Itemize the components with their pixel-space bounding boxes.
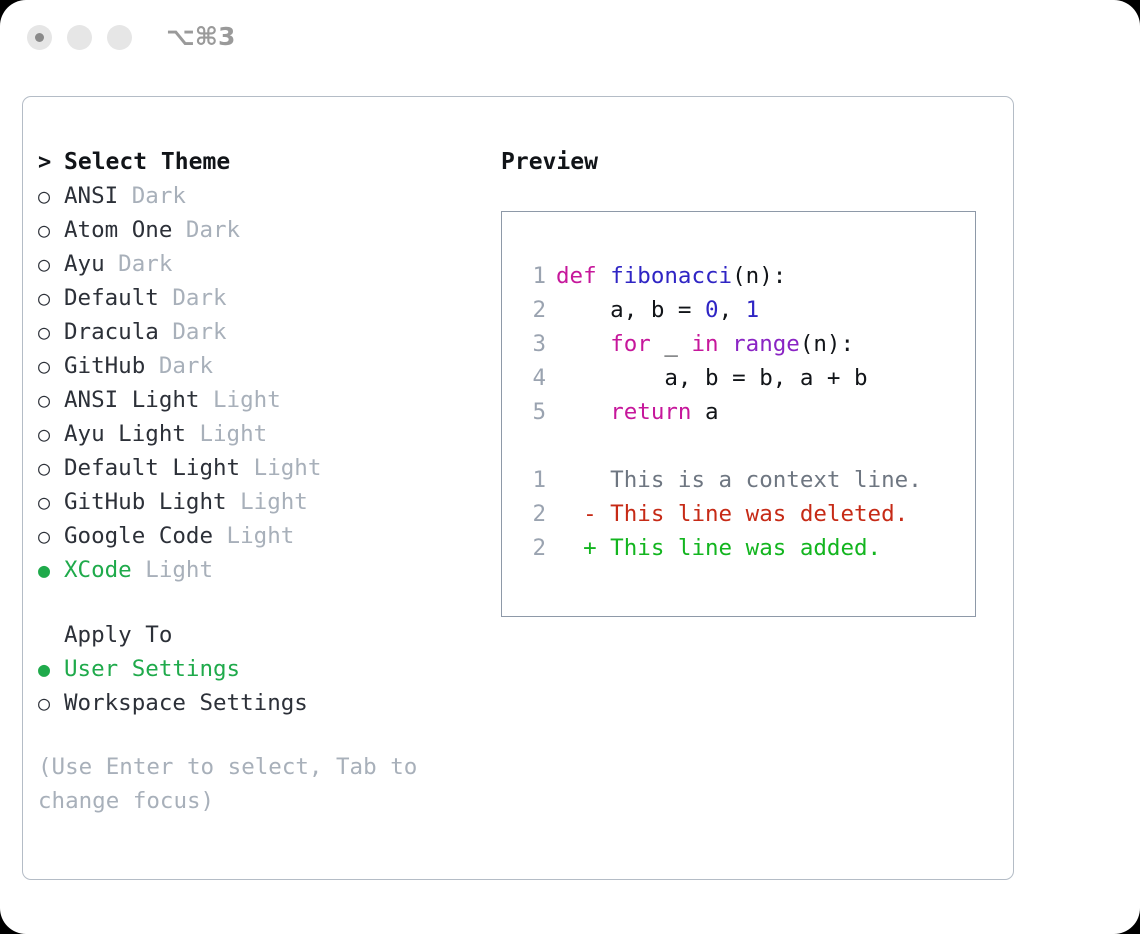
apply-to-option[interactable]: ○Workspace Settings [38, 686, 478, 720]
code-token-pl: (n): [732, 263, 786, 289]
apply-to-options: ●User Settings○Workspace Settings [38, 652, 478, 720]
traffic-light-maximize-icon[interactable] [107, 25, 132, 50]
code-token-pl: _ [651, 331, 692, 357]
theme-list-item[interactable]: ○Default Dark [38, 281, 478, 315]
code-token-bi: range [732, 331, 800, 357]
line-number: 2 [520, 293, 546, 327]
code-token-num: 0 [705, 297, 719, 323]
theme-list: ○ANSI Dark○Atom One Dark○Ayu Dark○Defaul… [38, 179, 478, 587]
apply-to-option-label: User Settings [64, 656, 240, 682]
theme-name: Ayu [64, 251, 105, 277]
keyboard-hint: (Use Enter to select, Tab to change focu… [38, 750, 438, 818]
line-number: 4 [520, 361, 546, 395]
app-window: ⌥⌘3 >Select Theme ○ANSI Dark○Atom One Da… [0, 0, 1140, 934]
code-token-pl [719, 331, 733, 357]
radio-unselected-icon: ○ [38, 686, 64, 720]
radio-unselected-icon: ○ [38, 349, 64, 383]
theme-kind-badge: Dark [159, 319, 227, 345]
line-number: 1 [520, 463, 546, 497]
theme-selection-column: >Select Theme ○ANSI Dark○Atom One Dark○A… [38, 145, 478, 818]
diff-line-text: - This line was deleted. [546, 501, 908, 527]
code-token-kw: for [610, 331, 651, 357]
code-line: 1def fibonacci(n): [520, 259, 922, 293]
diff-line: 2 - This line was deleted. [520, 497, 922, 531]
code-line-text: a, b = 0, 1 [546, 297, 759, 323]
theme-name: ANSI Light [64, 387, 199, 413]
code-token-kw: return [610, 399, 691, 425]
code-line: 3 for _ in range(n): [520, 327, 922, 361]
code-line: 5 return a [520, 395, 922, 429]
code-token-pl: a, b = [556, 297, 705, 323]
radio-unselected-icon: ○ [38, 247, 64, 281]
radio-unselected-icon: ○ [38, 519, 64, 553]
theme-list-item[interactable]: ○ANSI Dark [38, 179, 478, 213]
traffic-light-close-icon[interactable] [27, 25, 52, 50]
theme-name: Default Light [64, 455, 240, 481]
preview-column: Preview 1def fibonacci(n):2 a, b = 0, 13… [501, 145, 1001, 617]
theme-kind-badge: Light [240, 455, 321, 481]
code-token-pl [556, 399, 610, 425]
theme-list-item[interactable]: ●XCode Light [38, 553, 478, 587]
theme-kind-badge: Dark [105, 251, 173, 277]
theme-kind-badge: Dark [159, 285, 227, 311]
apply-to-option[interactable]: ●User Settings [38, 652, 478, 686]
code-token-num: 1 [746, 297, 760, 323]
select-theme-label: Select Theme [64, 149, 230, 175]
radio-unselected-icon: ○ [38, 315, 64, 349]
theme-list-item[interactable]: ○GitHub Dark [38, 349, 478, 383]
main-panel: >Select Theme ○ANSI Dark○Atom One Dark○A… [22, 96, 1014, 880]
theme-kind-badge: Light [227, 489, 308, 515]
preview-code: 1def fibonacci(n):2 a, b = 0, 13 for _ i… [520, 259, 922, 565]
code-token-kw: in [691, 331, 718, 357]
line-number: 2 [520, 497, 546, 531]
diff-line-text: This is a context line. [546, 467, 922, 493]
traffic-light-minimize-icon[interactable] [67, 25, 92, 50]
code-line-text: return a [546, 399, 719, 425]
radio-unselected-icon: ○ [38, 281, 64, 315]
theme-name: Default [64, 285, 159, 311]
apply-to-section: Apply To ●User Settings○Workspace Settin… [38, 618, 478, 720]
theme-list-item[interactable]: ○Atom One Dark [38, 213, 478, 247]
radio-selected-icon: ● [38, 652, 64, 686]
code-token-pl: , [719, 297, 746, 323]
theme-name: Ayu Light [64, 421, 186, 447]
theme-name: Atom One [64, 217, 172, 243]
radio-unselected-icon: ○ [38, 179, 64, 213]
diff-line: 2 + This line was added. [520, 531, 922, 565]
window-title: ⌥⌘3 [166, 22, 235, 51]
diff-line: 1 This is a context line. [520, 463, 922, 497]
code-token-pl: a [691, 399, 718, 425]
theme-list-item[interactable]: ○Ayu Light Light [38, 417, 478, 451]
code-diff-separator [520, 429, 922, 463]
prompt-caret-icon: > [38, 146, 64, 180]
line-number: 3 [520, 327, 546, 361]
radio-unselected-icon: ○ [38, 451, 64, 485]
line-number: 1 [520, 259, 546, 293]
line-number: 2 [520, 531, 546, 565]
theme-kind-badge: Light [186, 421, 267, 447]
preview-label: Preview [501, 145, 1001, 179]
line-number: 5 [520, 395, 546, 429]
theme-kind-badge: Light [199, 387, 280, 413]
theme-name: ANSI [64, 183, 118, 209]
code-token-pl: a, b = b, a + b [556, 365, 868, 391]
theme-kind-badge: Dark [145, 353, 213, 379]
apply-to-label: Apply To [38, 618, 478, 652]
radio-unselected-icon: ○ [38, 417, 64, 451]
theme-kind-badge: Dark [118, 183, 186, 209]
theme-list-item[interactable]: ○Default Light Light [38, 451, 478, 485]
diff-line-text: + This line was added. [546, 535, 881, 561]
theme-name: XCode [64, 557, 132, 583]
code-line-text: a, b = b, a + b [546, 365, 868, 391]
select-theme-header: >Select Theme [38, 145, 478, 179]
theme-name: GitHub [64, 353, 145, 379]
theme-list-item[interactable]: ○Ayu Dark [38, 247, 478, 281]
radio-unselected-icon: ○ [38, 213, 64, 247]
code-token-kw: def [556, 263, 610, 289]
theme-kind-badge: Light [132, 557, 213, 583]
preview-box: 1def fibonacci(n):2 a, b = 0, 13 for _ i… [501, 211, 976, 617]
theme-kind-badge: Dark [172, 217, 240, 243]
code-line-text: for _ in range(n): [546, 331, 854, 357]
code-token-fn: fibonacci [610, 263, 732, 289]
code-line-text: def fibonacci(n): [546, 263, 786, 289]
theme-list-item[interactable]: ○ANSI Light Light [38, 383, 478, 417]
code-line: 2 a, b = 0, 1 [520, 293, 922, 327]
code-token-pl [556, 331, 610, 357]
theme-list-item[interactable]: ○Dracula Dark [38, 315, 478, 349]
apply-to-option-label: Workspace Settings [64, 690, 308, 716]
radio-unselected-icon: ○ [38, 383, 64, 417]
code-token-pl: (n): [800, 331, 854, 357]
theme-kind-badge: Light [213, 523, 294, 549]
radio-selected-icon: ● [38, 553, 64, 587]
theme-name: Dracula [64, 319, 159, 345]
theme-list-item[interactable]: ○Google Code Light [38, 519, 478, 553]
title-bar: ⌥⌘3 [0, 0, 1140, 78]
theme-name: GitHub Light [64, 489, 227, 515]
theme-name: Google Code [64, 523, 213, 549]
theme-list-item[interactable]: ○GitHub Light Light [38, 485, 478, 519]
radio-unselected-icon: ○ [38, 485, 64, 519]
code-line: 4 a, b = b, a + b [520, 361, 922, 395]
